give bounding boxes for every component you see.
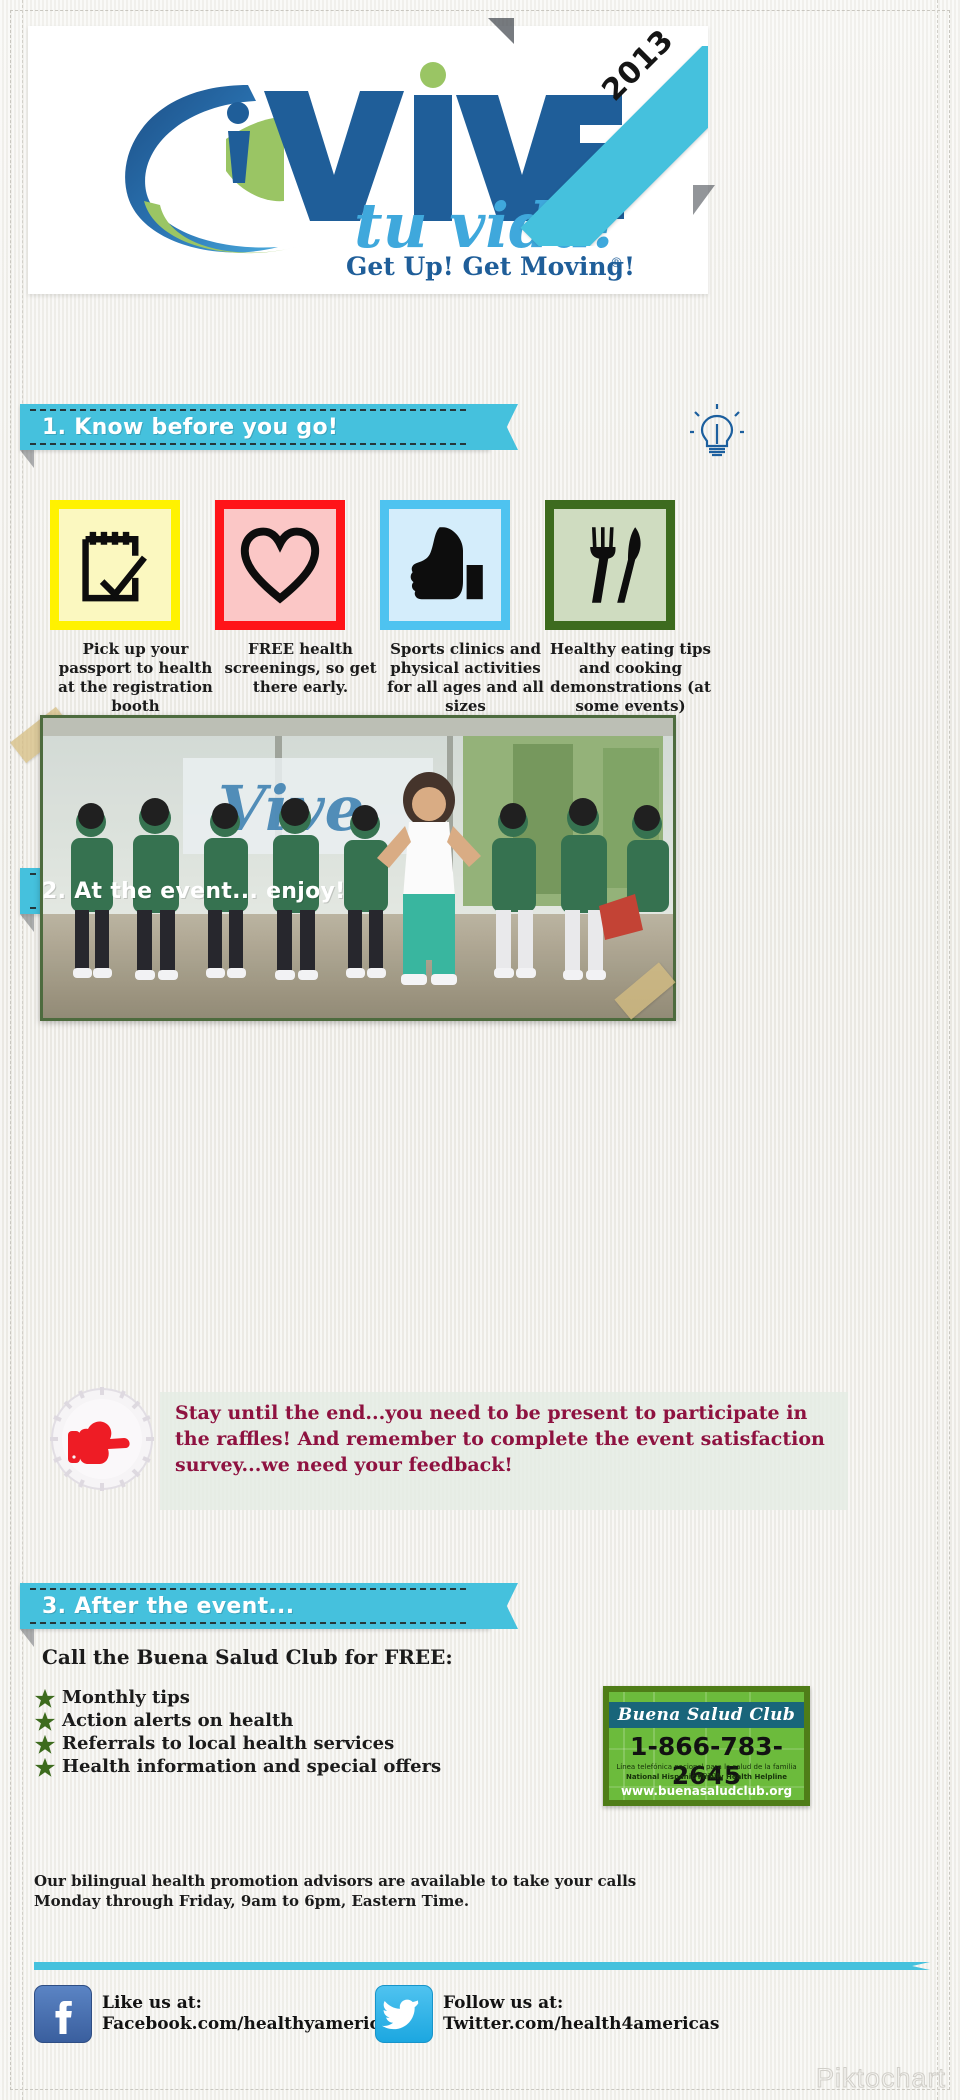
bsc-subtitle-en: National Hispanic Family Health Helpline (613, 1773, 800, 1781)
bsc-url[interactable]: www.buenasaludclub.org (609, 1784, 804, 1798)
callout-text: Stay until the end...you need to be pres… (175, 1400, 835, 1479)
footer-divider (34, 1962, 930, 1970)
left-edge-dash (22, 0, 23, 2100)
list-item: Action alerts on health (34, 1710, 474, 1732)
twitter-label: Follow us at: Twitter.com/health4america… (443, 1993, 719, 2036)
tile-sports (380, 500, 510, 630)
buena-salud-club-card[interactable]: Buena Salud Club 1-866-783-2645 Línea te… (603, 1686, 810, 1806)
section-3-banner: 3. After the event... (20, 1583, 490, 1629)
logo-card: tu vida! Get Up! Get Moving! ® (28, 26, 708, 294)
caption-passport: Pick up your passport to health at the r… (48, 640, 223, 716)
benefits-list: Monthly tips Action alerts on health Ref… (34, 1687, 474, 1779)
tile-healthy-eating (545, 500, 675, 630)
facebook-block[interactable]: Like us at: Facebook.com/healthyamericas (34, 1985, 400, 2043)
twitter-line2: Twitter.com/health4americas (443, 2014, 719, 2035)
lightbulb-icon (690, 404, 744, 460)
list-item-label: Monthly tips (62, 1689, 190, 1707)
facebook-label: Like us at: Facebook.com/healthyamericas (102, 1993, 400, 2036)
star-icon (34, 1711, 56, 1732)
bsc-name: Buena Salud Club (618, 1705, 795, 1725)
list-item-label: Referrals to local health services (62, 1735, 394, 1753)
caption-screenings: FREE health screenings, so get there ear… (213, 640, 388, 697)
list-item: Monthly tips (34, 1687, 474, 1709)
list-item-label: Action alerts on health (62, 1712, 293, 1730)
list-item: Referrals to local health services (34, 1733, 474, 1755)
caption-healthy-eating: Healthy eating tips and cooking demonstr… (543, 640, 718, 716)
twitter-block[interactable]: Follow us at: Twitter.com/health4america… (375, 1985, 719, 2043)
heart-icon (236, 521, 324, 609)
event-photo: Vive (40, 715, 676, 1021)
infographic-page: tu vida! Get Up! Get Moving! ® 2013 1. K… (0, 0, 960, 2100)
list-item-label: Health information and special offers (62, 1758, 441, 1776)
call-club-title: Call the Buena Salud Club for FREE: (42, 1645, 453, 1669)
right-edge-dash (937, 0, 938, 2100)
advisors-note: Our bilingual health promotion advisors … (34, 1872, 674, 1911)
facebook-line1: Like us at: (102, 1993, 400, 2014)
tile-passport (50, 500, 180, 630)
bsc-name-band: Buena Salud Club (609, 1702, 804, 1728)
section-2-title: 2. At the event... enjoy! (20, 879, 346, 904)
notepad-checkmark-icon (69, 519, 161, 611)
twitter-icon[interactable] (375, 1985, 433, 2043)
tile-screenings (215, 500, 345, 630)
piktochart-watermark: Piktochart (816, 2063, 946, 2094)
section-1-tiles (40, 500, 700, 630)
facebook-icon[interactable] (34, 1985, 92, 2043)
star-icon (34, 1688, 56, 1709)
bsc-phone: 1-866-783-2645 (609, 1732, 804, 1790)
section-1-banner: 1. Know before you go! (20, 404, 490, 450)
star-icon (34, 1757, 56, 1778)
list-item: Health information and special offers (34, 1756, 474, 1778)
svg-text:®: ® (610, 256, 623, 271)
fork-knife-icon (565, 520, 655, 610)
facebook-line2: Facebook.com/healthyamericas (102, 2014, 400, 2035)
thumbs-up-icon (400, 520, 490, 610)
section-3-title: 3. After the event... (20, 1594, 294, 1619)
section-1-title: 1. Know before you go! (20, 415, 338, 440)
twitter-line1: Follow us at: (443, 1993, 719, 2014)
pointing-hand-icon (48, 1385, 156, 1493)
caption-sports: Sports clinics and physical activities f… (378, 640, 553, 716)
event-photo-illustration: Vive (43, 718, 673, 1018)
vive-tu-vida-logo-icon: tu vida! Get Up! Get Moving! ® (98, 51, 638, 281)
svg-text:Get Up! Get Moving!: Get Up! Get Moving! (346, 252, 635, 281)
star-icon (34, 1734, 56, 1755)
